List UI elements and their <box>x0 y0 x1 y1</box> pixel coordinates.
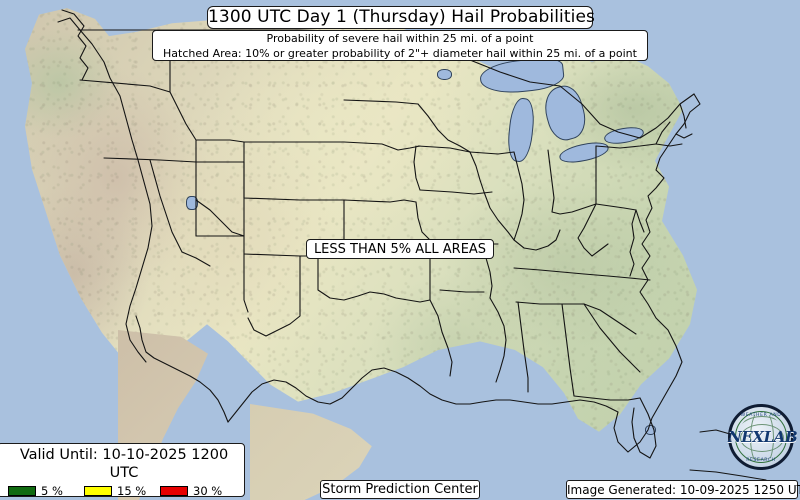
border-al-ga <box>562 304 574 396</box>
border-sc-ga <box>584 304 640 372</box>
legend-panel: Valid Until: 10-10-2025 1200 UTC 5 % 15 … <box>0 443 245 497</box>
border-ky-tn <box>514 268 584 274</box>
border-ia-il <box>470 152 484 192</box>
border-nc-sc <box>584 304 636 334</box>
border-wv-va <box>578 204 608 256</box>
border-chesapeake <box>630 210 636 276</box>
coastline-gulf <box>228 368 618 422</box>
border-wi-il <box>470 152 514 154</box>
border-ks-mo <box>416 202 430 240</box>
legend-label-5: 5 % <box>41 485 63 497</box>
border-pa-ny <box>596 144 656 148</box>
logo-arc-bottom-text: RESEARCH <box>728 458 794 463</box>
subtitle-line-2: Hatched Area: 10% or greater probability… <box>153 47 647 62</box>
legend-swatch-grid: 5 % 15 % 30 % 45 % 60 % SIG <box>0 482 244 500</box>
border-ga-fl <box>574 396 640 400</box>
coastline-puget-sound <box>62 10 88 80</box>
legend-item-5: 5 % <box>8 485 84 497</box>
spc-hail-outlook-map: 1300 UTC Day 1 (Thursday) Hail Probabili… <box>0 0 800 500</box>
border-nv-az <box>196 200 244 236</box>
border-ia-mo <box>420 190 492 194</box>
border-tx-la <box>430 300 452 376</box>
nexlab-logo: WEATHER AND NEXLAB RESEARCH <box>728 404 794 470</box>
coastline-bahamas <box>700 430 730 434</box>
border-ar-la <box>440 290 484 292</box>
border-ca-nv <box>150 160 182 252</box>
image-generated-timestamp: Image Generated: 10-09-2025 1250 UTC <box>566 480 798 499</box>
border-il-in <box>514 152 524 240</box>
logo-wordmark: NEXLAB <box>728 428 794 446</box>
source-attribution: Storm Prediction Center <box>320 480 480 499</box>
border-in-oh <box>548 150 554 212</box>
border-canada-east <box>420 56 694 138</box>
legend-valid-until: Valid Until: 10-10-2025 1200 UTC <box>0 446 244 482</box>
border-wy-co <box>244 142 344 200</box>
border-ma-ct-ri <box>676 134 692 138</box>
logo-arc-top-text: WEATHER AND <box>728 413 794 418</box>
border-wa-or <box>80 80 170 92</box>
legend-item-30: 30 % <box>160 485 236 497</box>
border-ms-al <box>518 302 528 392</box>
border-md-de <box>636 210 644 232</box>
subtitle-line-1: Probability of severe hail within 25 mi.… <box>153 32 647 47</box>
border-pa-md <box>596 204 636 210</box>
product-subtitle: Probability of severe hail within 25 mi.… <box>152 30 648 61</box>
legend-label-30: 30 % <box>193 485 222 497</box>
legend-swatch-30 <box>160 486 188 496</box>
border-la-ms <box>490 298 506 382</box>
page-title: 1300 UTC Day 1 (Thursday) Hail Probabili… <box>207 6 593 29</box>
border-sd-ne <box>344 142 420 150</box>
border-mt-id-wy <box>196 140 244 142</box>
center-annotation-label: LESS THAN 5% ALL AREAS <box>306 239 494 259</box>
border-ne-ks <box>344 200 416 202</box>
coastline-cuba <box>690 470 766 480</box>
legend-item-15: 15 % <box>84 485 160 497</box>
border-ca-az <box>182 252 210 266</box>
border-ok-tx <box>318 256 430 302</box>
border-in-ky <box>514 230 560 250</box>
coastline-florida <box>632 398 656 458</box>
border-va-nc <box>584 274 650 280</box>
legend-swatch-15 <box>84 486 112 496</box>
legend-swatch-5 <box>8 486 36 496</box>
border-mn-wi <box>418 104 470 152</box>
border-nm-tx <box>248 256 300 336</box>
coastline-west <box>58 18 152 362</box>
border-nd-sd <box>344 100 418 104</box>
legend-label-15: 15 % <box>117 485 146 497</box>
border-mexico <box>136 316 228 422</box>
border-ny-ne <box>656 122 670 144</box>
border-oh-wv-pa <box>552 204 596 214</box>
border-ne-ia <box>414 146 420 190</box>
border-az-nm <box>244 236 248 312</box>
border-tn-al-ga <box>516 302 584 304</box>
